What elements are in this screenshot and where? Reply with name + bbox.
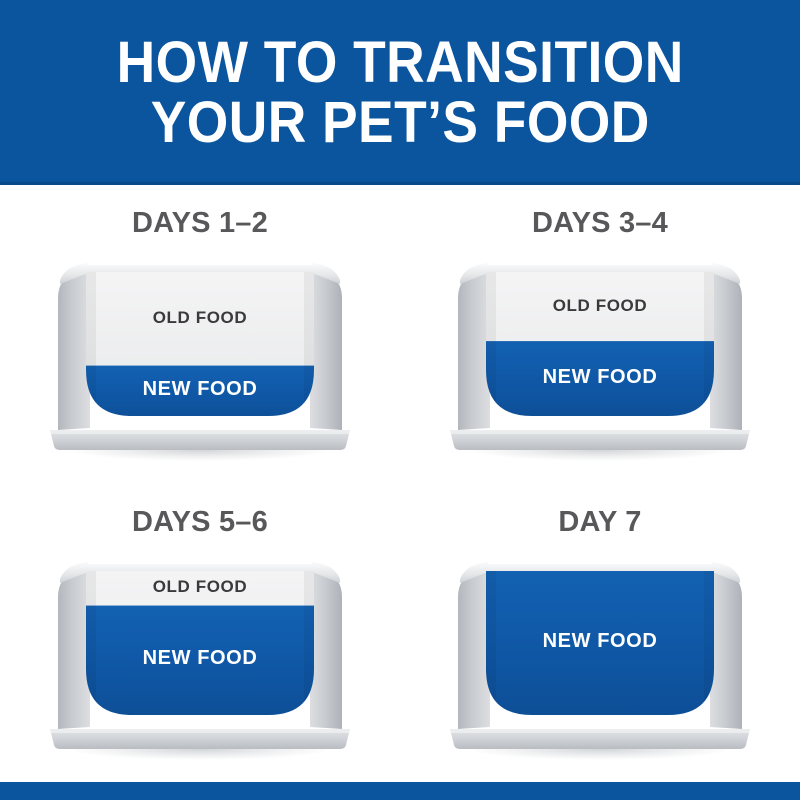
food-bowl: NEW FOOD	[440, 553, 760, 768]
food-bowl: OLD FOOD NEW FOOD	[40, 254, 360, 469]
transition-step-panel: DAY 7	[400, 484, 800, 782]
footer-bar	[0, 782, 800, 800]
food-bowl: OLD FOOD NEW FOOD	[440, 254, 760, 469]
transition-step-panel: DAYS 5–6	[0, 484, 400, 782]
food-bowl: OLD FOOD NEW FOOD	[40, 553, 360, 768]
food-bowl-illustration	[440, 254, 760, 469]
panel-title: DAYS 3–4	[532, 207, 668, 240]
header-banner: HOW TO TRANSITION YOUR PET’S FOOD	[0, 0, 800, 185]
panel-title: DAY 7	[558, 506, 641, 539]
transition-step-panel: DAYS 1–2	[0, 185, 400, 484]
transition-step-panel: DAYS 3–4	[400, 185, 800, 484]
header-title-line-1: HOW TO TRANSITION	[116, 35, 683, 91]
panel-title: DAYS 1–2	[132, 207, 268, 240]
food-bowl-illustration	[40, 254, 360, 469]
panel-title: DAYS 5–6	[132, 506, 268, 539]
transition-step-grid: DAYS 1–2	[0, 185, 800, 782]
header-title-line-2: YOUR PET’S FOOD	[150, 95, 649, 151]
infographic-page: HOW TO TRANSITION YOUR PET’S FOOD DAYS 1…	[0, 0, 800, 800]
food-bowl-illustration	[440, 553, 760, 768]
food-bowl-illustration	[40, 553, 360, 768]
